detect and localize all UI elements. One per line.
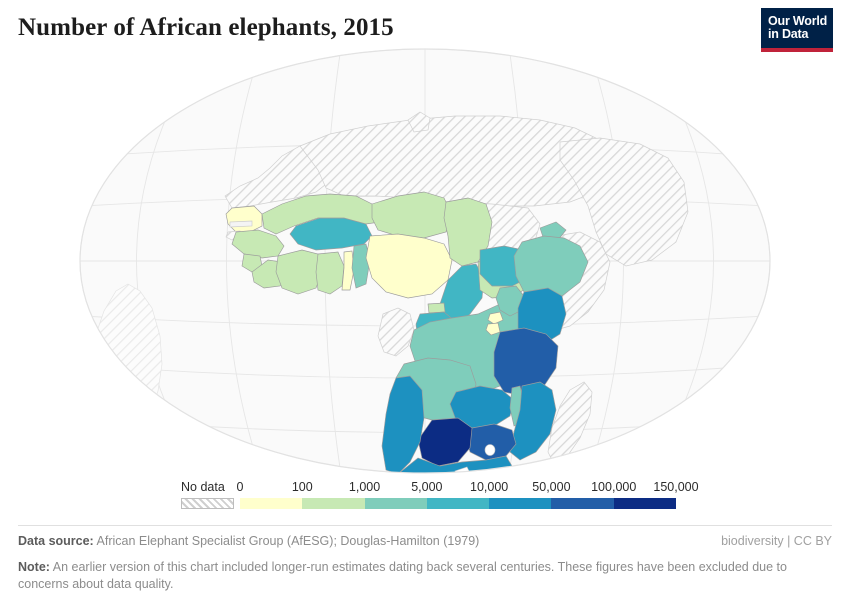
legend-tick-100: 100 <box>292 480 313 494</box>
legend-tick-5000: 5,000 <box>411 480 442 494</box>
legend-bin-10000-50000[interactable] <box>489 498 551 509</box>
map-legend: No data 01001,0005,00010,00050,000100,00… <box>0 478 850 518</box>
note-text: An earlier version of this chart include… <box>18 560 787 591</box>
data-source-text: African Elephant Specialist Group (AfESG… <box>97 534 480 548</box>
footer-divider <box>18 525 832 526</box>
logo-line-1: Our World <box>768 15 827 29</box>
legend-tick-0: 0 <box>237 480 244 494</box>
footer-license[interactable]: biodiversity | CC BY <box>721 533 832 550</box>
legend-tick-10000: 10,000 <box>470 480 508 494</box>
note-label: Note: <box>18 560 50 574</box>
map-container[interactable] <box>0 46 850 476</box>
country-ivory-coast <box>276 250 322 294</box>
legend-no-data-label: No data <box>181 480 225 494</box>
legend-tick-50000: 50,000 <box>532 480 570 494</box>
page-title: Number of African elephants, 2015 <box>18 14 394 42</box>
legend-bin-50000-100000[interactable] <box>551 498 613 509</box>
country-lesotho <box>485 445 495 456</box>
country-equatorial-guinea <box>428 303 445 313</box>
note-row: Note: An earlier version of this chart i… <box>18 559 808 592</box>
legend-bin-100000-150000[interactable] <box>614 498 676 509</box>
legend-bin-1000-5000[interactable] <box>365 498 427 509</box>
chart-page: Number of African elephants, 2015 Our Wo… <box>0 0 850 600</box>
data-source-label: Data source: <box>18 534 94 548</box>
country-ghana <box>316 252 344 294</box>
footer: Data source: African Elephant Specialist… <box>18 533 832 592</box>
legend-tick-1000: 1,000 <box>349 480 380 494</box>
legend-bin-5000-10000[interactable] <box>427 498 489 509</box>
legend-bin-100-1000[interactable] <box>302 498 364 509</box>
country-gambia <box>230 221 252 227</box>
legend-tick-100000: 100,000 <box>591 480 636 494</box>
legend-tick-150000: 150,000 <box>653 480 698 494</box>
legend-no-data-swatch <box>181 498 234 509</box>
legend-bin-0-100[interactable] <box>240 498 302 509</box>
legend-bins[interactable] <box>240 498 676 509</box>
data-source-row: Data source: African Elephant Specialist… <box>18 533 832 550</box>
logo-line-2: in Data <box>768 28 808 42</box>
choropleth-map[interactable] <box>0 46 850 476</box>
